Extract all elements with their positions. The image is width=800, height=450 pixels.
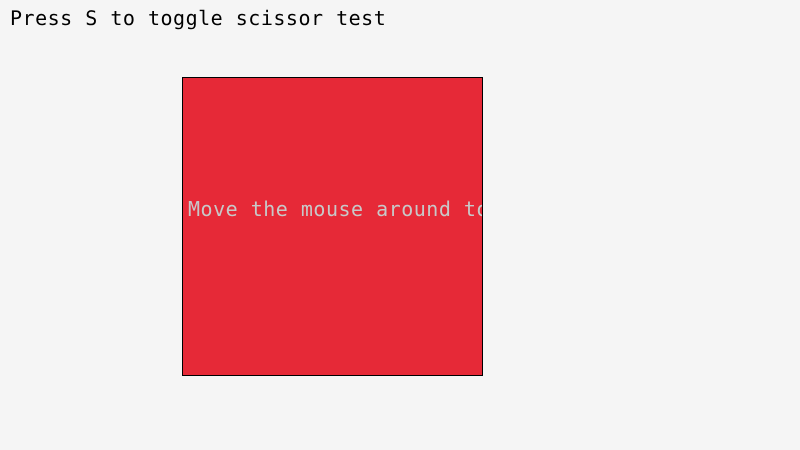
app-window: Press S to toggle scissor test Move the … [0,0,800,450]
instruction-label: Press S to toggle scissor test [10,8,386,28]
scissor-clip-region: Move the mouse around to reveal this tex… [182,77,483,376]
scissor-fill-rectangle [182,77,483,376]
clipped-message-text: Move the mouse around to reveal this tex… [188,199,483,219]
